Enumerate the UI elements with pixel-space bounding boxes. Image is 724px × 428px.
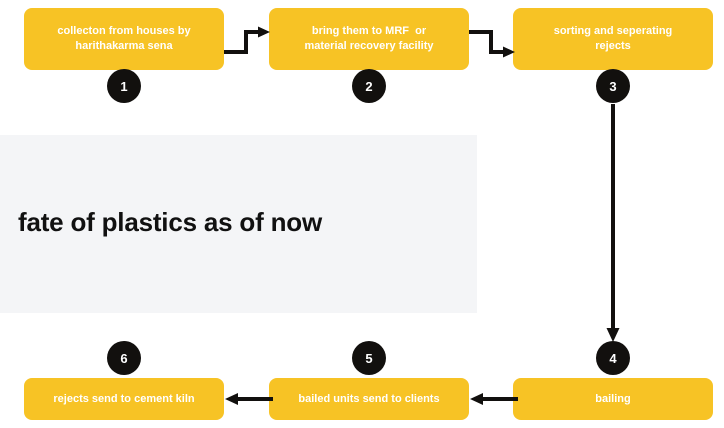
- page-title: fate of plastics as of now: [18, 208, 458, 237]
- step-badge-6: 6: [107, 341, 141, 375]
- step-badge-1: 1: [107, 69, 141, 103]
- diagram-canvas: fate of plastics as of now collecton fro…: [0, 0, 724, 428]
- arrow-step-1-to-2: [224, 22, 272, 62]
- process-box-step-6[interactable]: rejects send to cement kiln: [24, 378, 224, 420]
- step-badge-3: 3: [596, 69, 630, 103]
- arrow-step-4-to-5: [468, 384, 518, 414]
- step-badge-2: 2: [352, 69, 386, 103]
- arrow-step-5-to-6: [223, 384, 273, 414]
- process-box-step-3[interactable]: sorting and seperating rejects: [513, 8, 713, 70]
- step-badge-4: 4: [596, 341, 630, 375]
- arrow-step-2-to-3: [469, 22, 517, 62]
- step-badge-5: 5: [352, 341, 386, 375]
- arrow-step-3-to-4: [598, 104, 628, 344]
- process-box-step-2[interactable]: bring them to MRF or material recovery f…: [269, 8, 469, 70]
- process-box-step-5[interactable]: bailed units send to clients: [269, 378, 469, 420]
- process-box-step-1[interactable]: collecton from houses by harithakarma se…: [24, 8, 224, 70]
- process-box-step-4[interactable]: bailing: [513, 378, 713, 420]
